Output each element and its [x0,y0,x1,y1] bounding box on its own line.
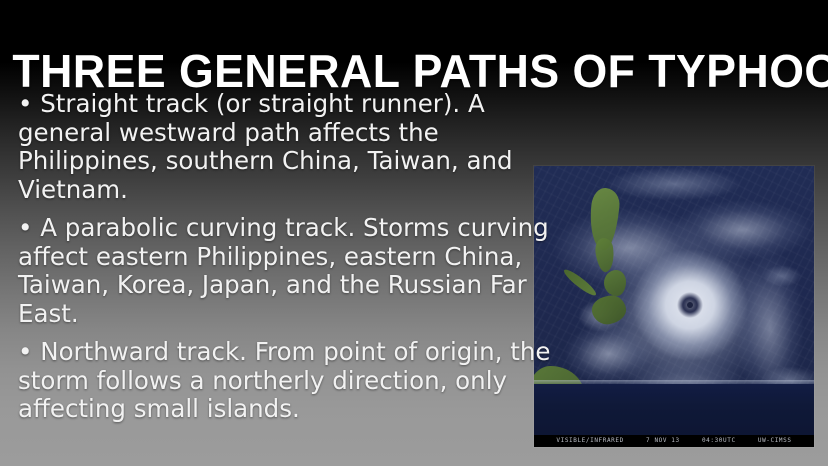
typhoon-eye-marker [687,302,693,308]
bullet-parabolic-curving-track: • A parabolic curving track. Storms curv… [18,214,574,328]
satellite-caption-date: 7 NOV 13 [646,437,680,444]
slide: THREE GENERAL PATHS OF TYPHOON VISIBLE/I… [0,0,828,466]
bullet-straight-track: • Straight track (or straight runner). A… [18,90,574,204]
satellite-caption-source: UW-CIMSS [758,437,792,444]
bullet-northward-track: • Northward track. From point of origin,… [18,338,574,424]
night-side-band [534,384,814,439]
satellite-caption-time: 04:30UTC [702,437,736,444]
typhoon-satellite-image: VISIBLE/INFRARED 7 NOV 13 04:30UTC UW-CI… [534,166,814,447]
satellite-imagery-canvas [534,166,814,447]
satellite-caption: VISIBLE/INFRARED 7 NOV 13 04:30UTC UW-CI… [534,435,814,447]
landmass-samar [604,270,626,296]
satellite-caption-channel: VISIBLE/INFRARED [556,437,623,444]
body-text-block: • Straight track (or straight runner). A… [18,90,574,426]
landmass-luzon-south [594,237,617,273]
landmass-mindanao [590,293,628,326]
